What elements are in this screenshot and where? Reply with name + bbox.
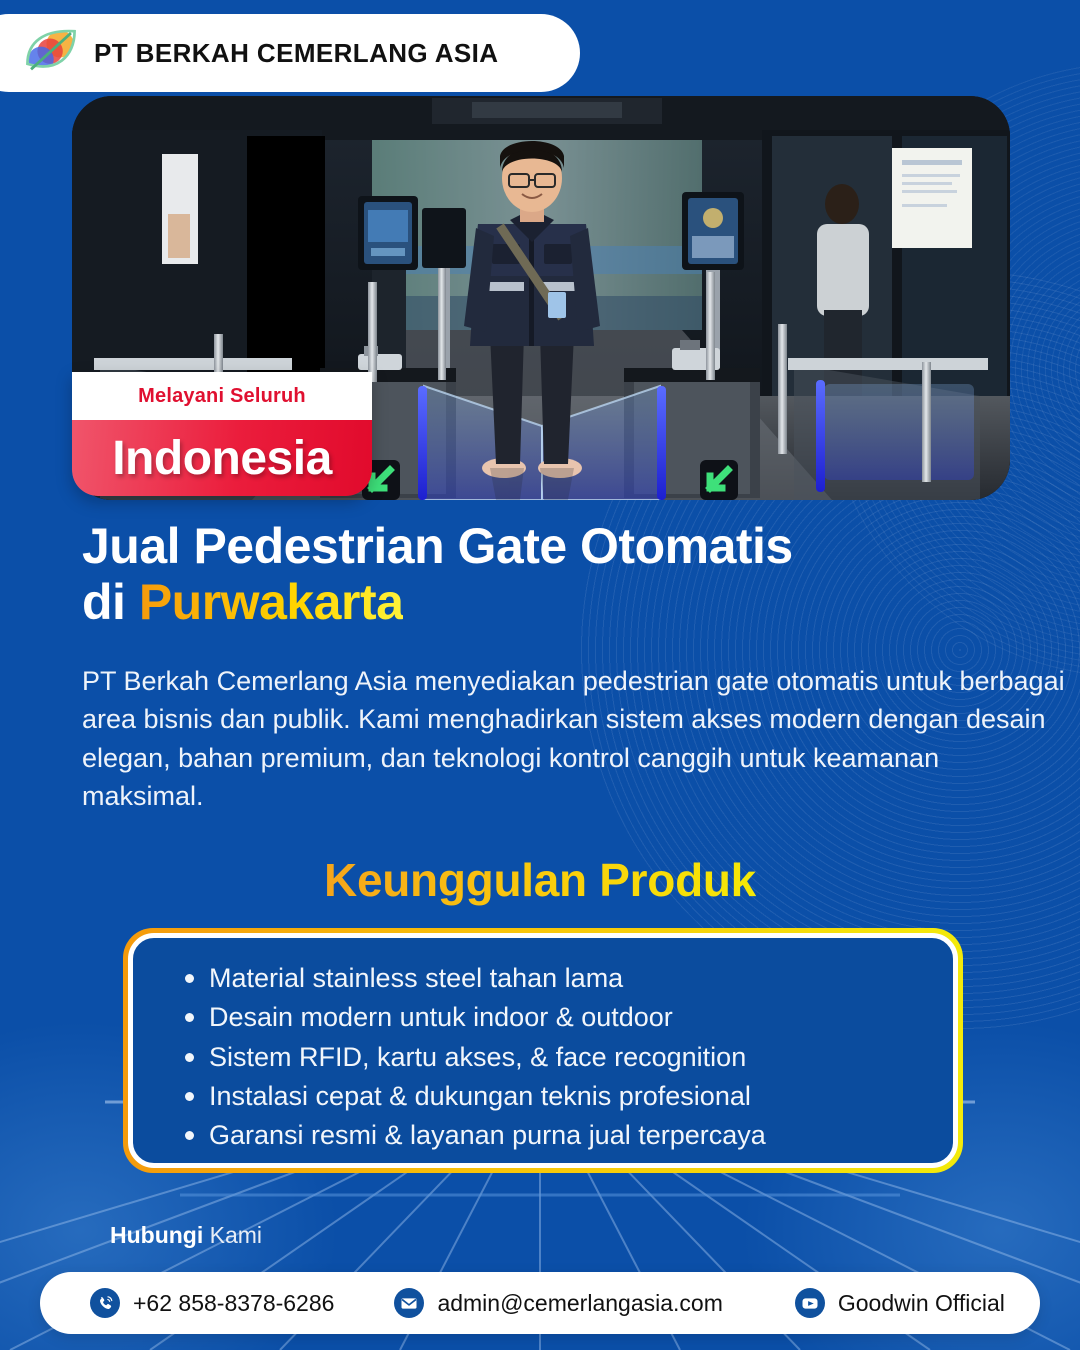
phone-icon [90,1288,120,1318]
contact-youtube[interactable]: Goodwin Official [795,1288,1005,1318]
section-heading: Keunggulan Produk [0,853,1080,907]
contact-email-value: admin@cemerlangasia.com [437,1290,722,1317]
list-item: Garansi resmi & layanan purna jual terpe… [173,1117,953,1154]
contact-email[interactable]: admin@cemerlangasia.com [394,1288,722,1318]
list-item: Desain modern untuk indoor & outdoor [173,999,953,1036]
contact-phone-value: +62 858-8378-6286 [133,1290,334,1317]
badge-top-row: Melayani Seluruh [72,372,372,420]
list-item: Sistem RFID, kartu akses, & face recogni… [173,1039,953,1076]
features-card-inner: Material stainless steel tahan lama Desa… [128,933,958,1168]
contact-label-rest: Kami [203,1222,262,1248]
brand-header: PT BERKAH CEMERLANG ASIA [0,14,580,92]
contact-youtube-value: Goodwin Official [838,1290,1005,1317]
headline-location-accent: Purwakarta [139,574,404,630]
envelope-icon [394,1288,424,1318]
contact-bar: +62 858-8378-6286 admin@cemerlangasia.co… [40,1272,1040,1334]
brand-name: PT BERKAH CEMERLANG ASIA [94,38,498,69]
intro-paragraph: PT Berkah Cemerlang Asia menyediakan ped… [82,662,1067,815]
headline-line-1: Jual Pedestrian Gate Otomatis [82,518,793,574]
features-card: Material stainless steel tahan lama Desa… [123,928,963,1173]
leaf-circles-logo-icon [22,24,80,82]
page-title: Jual Pedestrian Gate Otomatis di Purwaka… [82,518,982,630]
list-item: Material stainless steel tahan lama [173,960,953,997]
youtube-play-icon [795,1288,825,1318]
section-heading-text: Keunggulan Produk [324,854,756,906]
poster-root: PT BERKAH CEMERLANG ASIA [0,0,1080,1350]
contact-phone[interactable]: +62 858-8378-6286 [90,1288,334,1318]
list-item: Instalasi cepat & dukungan teknis profes… [173,1078,953,1115]
contact-label-bold: Hubungi [110,1222,203,1248]
badge-top-text: Melayani Seluruh [138,385,306,408]
badge-bottom-row: Indonesia [72,420,372,496]
badge-bottom-text: Indonesia [112,431,332,486]
headline-line-2-prefix: di [82,574,139,630]
service-area-badge: Melayani Seluruh Indonesia [72,372,372,496]
features-list: Material stainless steel tahan lama Desa… [173,960,953,1154]
contact-label: Hubungi Kami [110,1222,262,1249]
